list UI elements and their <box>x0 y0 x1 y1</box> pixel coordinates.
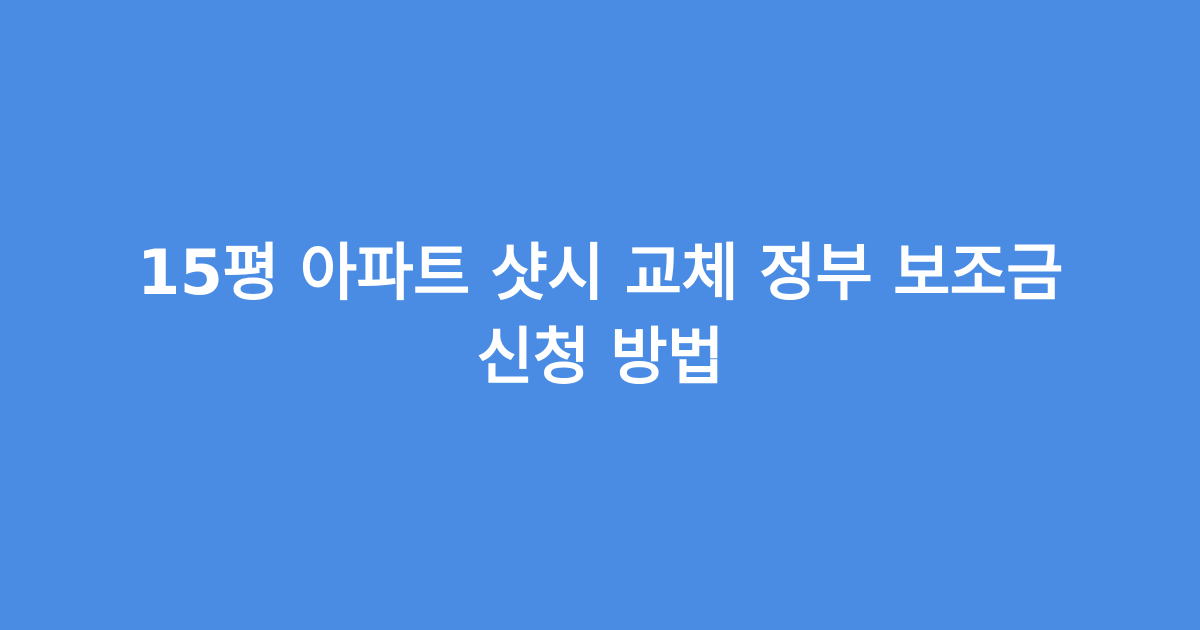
page-title: 15평 아파트 샷시 교체 정부 보조금 신청 방법 <box>110 231 1090 400</box>
title-block: 15평 아파트 샷시 교체 정부 보조금 신청 방법 <box>90 231 1110 400</box>
thumbnail-card: 15평 아파트 샷시 교체 정부 보조금 신청 방법 <box>0 0 1200 630</box>
